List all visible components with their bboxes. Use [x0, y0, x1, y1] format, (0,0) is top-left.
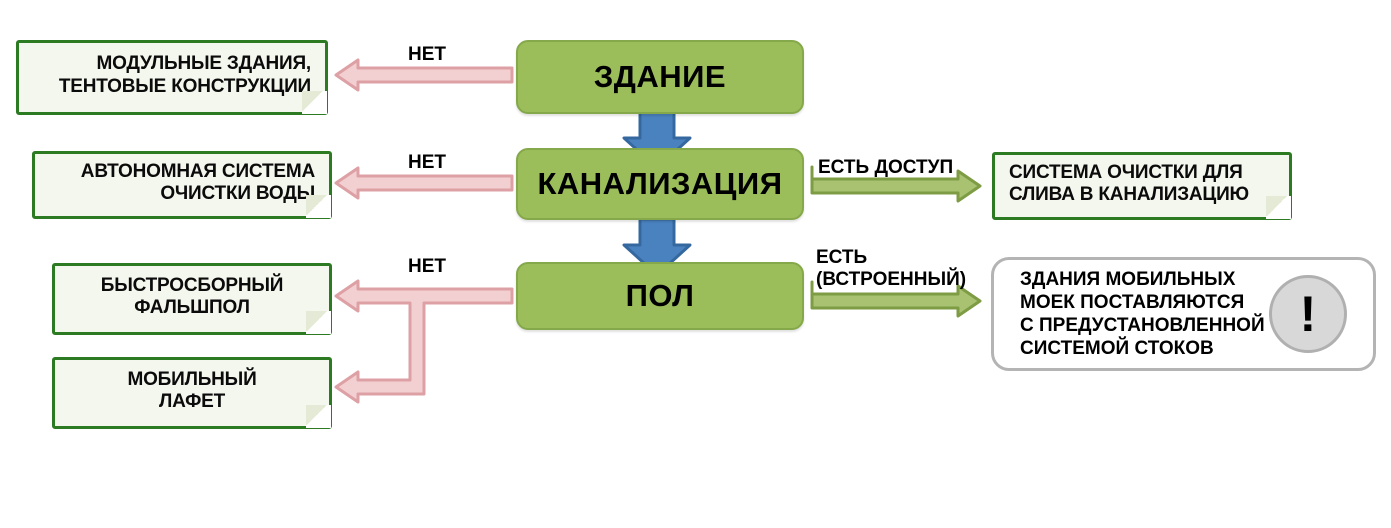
warning-box-prebuilt-drains[interactable]: ЗДАНИЯ МОБИЛЬНЫХ МОЕК ПОСТАВЛЯЮТСЯ С ПРЕ… [991, 257, 1376, 371]
corner-fold-icon [306, 195, 331, 218]
decision-label-kanalizaciya: КАНАЛИЗАЦИЯ [537, 166, 782, 202]
edge-label-no-building: НЕТ [408, 44, 446, 66]
decision-label-zdanie: ЗДАНИЕ [594, 59, 726, 95]
corner-fold-icon [306, 311, 331, 334]
outcome-label-sewer-cleaning: СИСТЕМА ОЧИСТКИ ДЛЯ СЛИВА В КАНАЛИЗАЦИЮ [1009, 162, 1275, 207]
outcome-label-raised-floor: БЫСТРОСБОРНЫЙ ФАЛЬШПОЛ [69, 275, 315, 320]
decision-box-zdanie[interactable]: ЗДАНИЕ [516, 40, 804, 114]
outcome-box-sewer-cleaning[interactable]: СИСТЕМА ОЧИСТКИ ДЛЯ СЛИВА В КАНАЛИЗАЦИЮ [992, 152, 1292, 220]
outcome-box-mobile-lafet[interactable]: МОБИЛЬНЫЙ ЛАФЕТ [52, 357, 332, 429]
exclamation-icon: ! [1269, 275, 1347, 353]
decision-box-kanalizaciya[interactable]: КАНАЛИЗАЦИЯ [516, 148, 804, 220]
decision-box-pol[interactable]: ПОЛ [516, 262, 804, 330]
warning-text: ЗДАНИЯ МОБИЛЬНЫХ МОЕК ПОСТАВЛЯЮТСЯ С ПРЕ… [1020, 268, 1269, 361]
outcome-label-autonomous-water: АВТОНОМНАЯ СИСТЕМА ОЧИСТКИ ВОДЫ [49, 161, 315, 206]
edge-label-has-sewer-access: ЕСТЬ ДОСТУП [818, 157, 953, 179]
edge-label-no-sewer: НЕТ [408, 152, 446, 174]
exclamation-glyph: ! [1300, 294, 1317, 334]
edge-label-no-floor: НЕТ [408, 256, 446, 278]
outcome-box-modular[interactable]: МОДУЛЬНЫЕ ЗДАНИЯ, ТЕНТОВЫЕ КОНСТРУКЦИИ [16, 40, 328, 115]
edge-label-has-builtin-floor: ЕСТЬ (ВСТРОЕННЫЙ) [816, 247, 966, 291]
corner-fold-icon [302, 91, 327, 114]
outcome-box-autonomous-water[interactable]: АВТОНОМНАЯ СИСТЕМА ОЧИСТКИ ВОДЫ [32, 151, 332, 219]
corner-fold-icon [306, 405, 331, 428]
diagram-canvas: МОДУЛЬНЫЕ ЗДАНИЯ, ТЕНТОВЫЕ КОНСТРУКЦИИ А… [0, 0, 1391, 528]
pink-branch-arrow-no-floor [336, 281, 512, 402]
corner-fold-icon [1266, 196, 1291, 219]
outcome-label-modular: МОДУЛЬНЫЕ ЗДАНИЯ, ТЕНТОВЫЕ КОНСТРУКЦИИ [33, 53, 311, 98]
outcome-label-mobile-lafet: МОБИЛЬНЫЙ ЛАФЕТ [69, 369, 315, 414]
decision-label-pol: ПОЛ [626, 278, 695, 314]
outcome-box-raised-floor[interactable]: БЫСТРОСБОРНЫЙ ФАЛЬШПОЛ [52, 263, 332, 335]
